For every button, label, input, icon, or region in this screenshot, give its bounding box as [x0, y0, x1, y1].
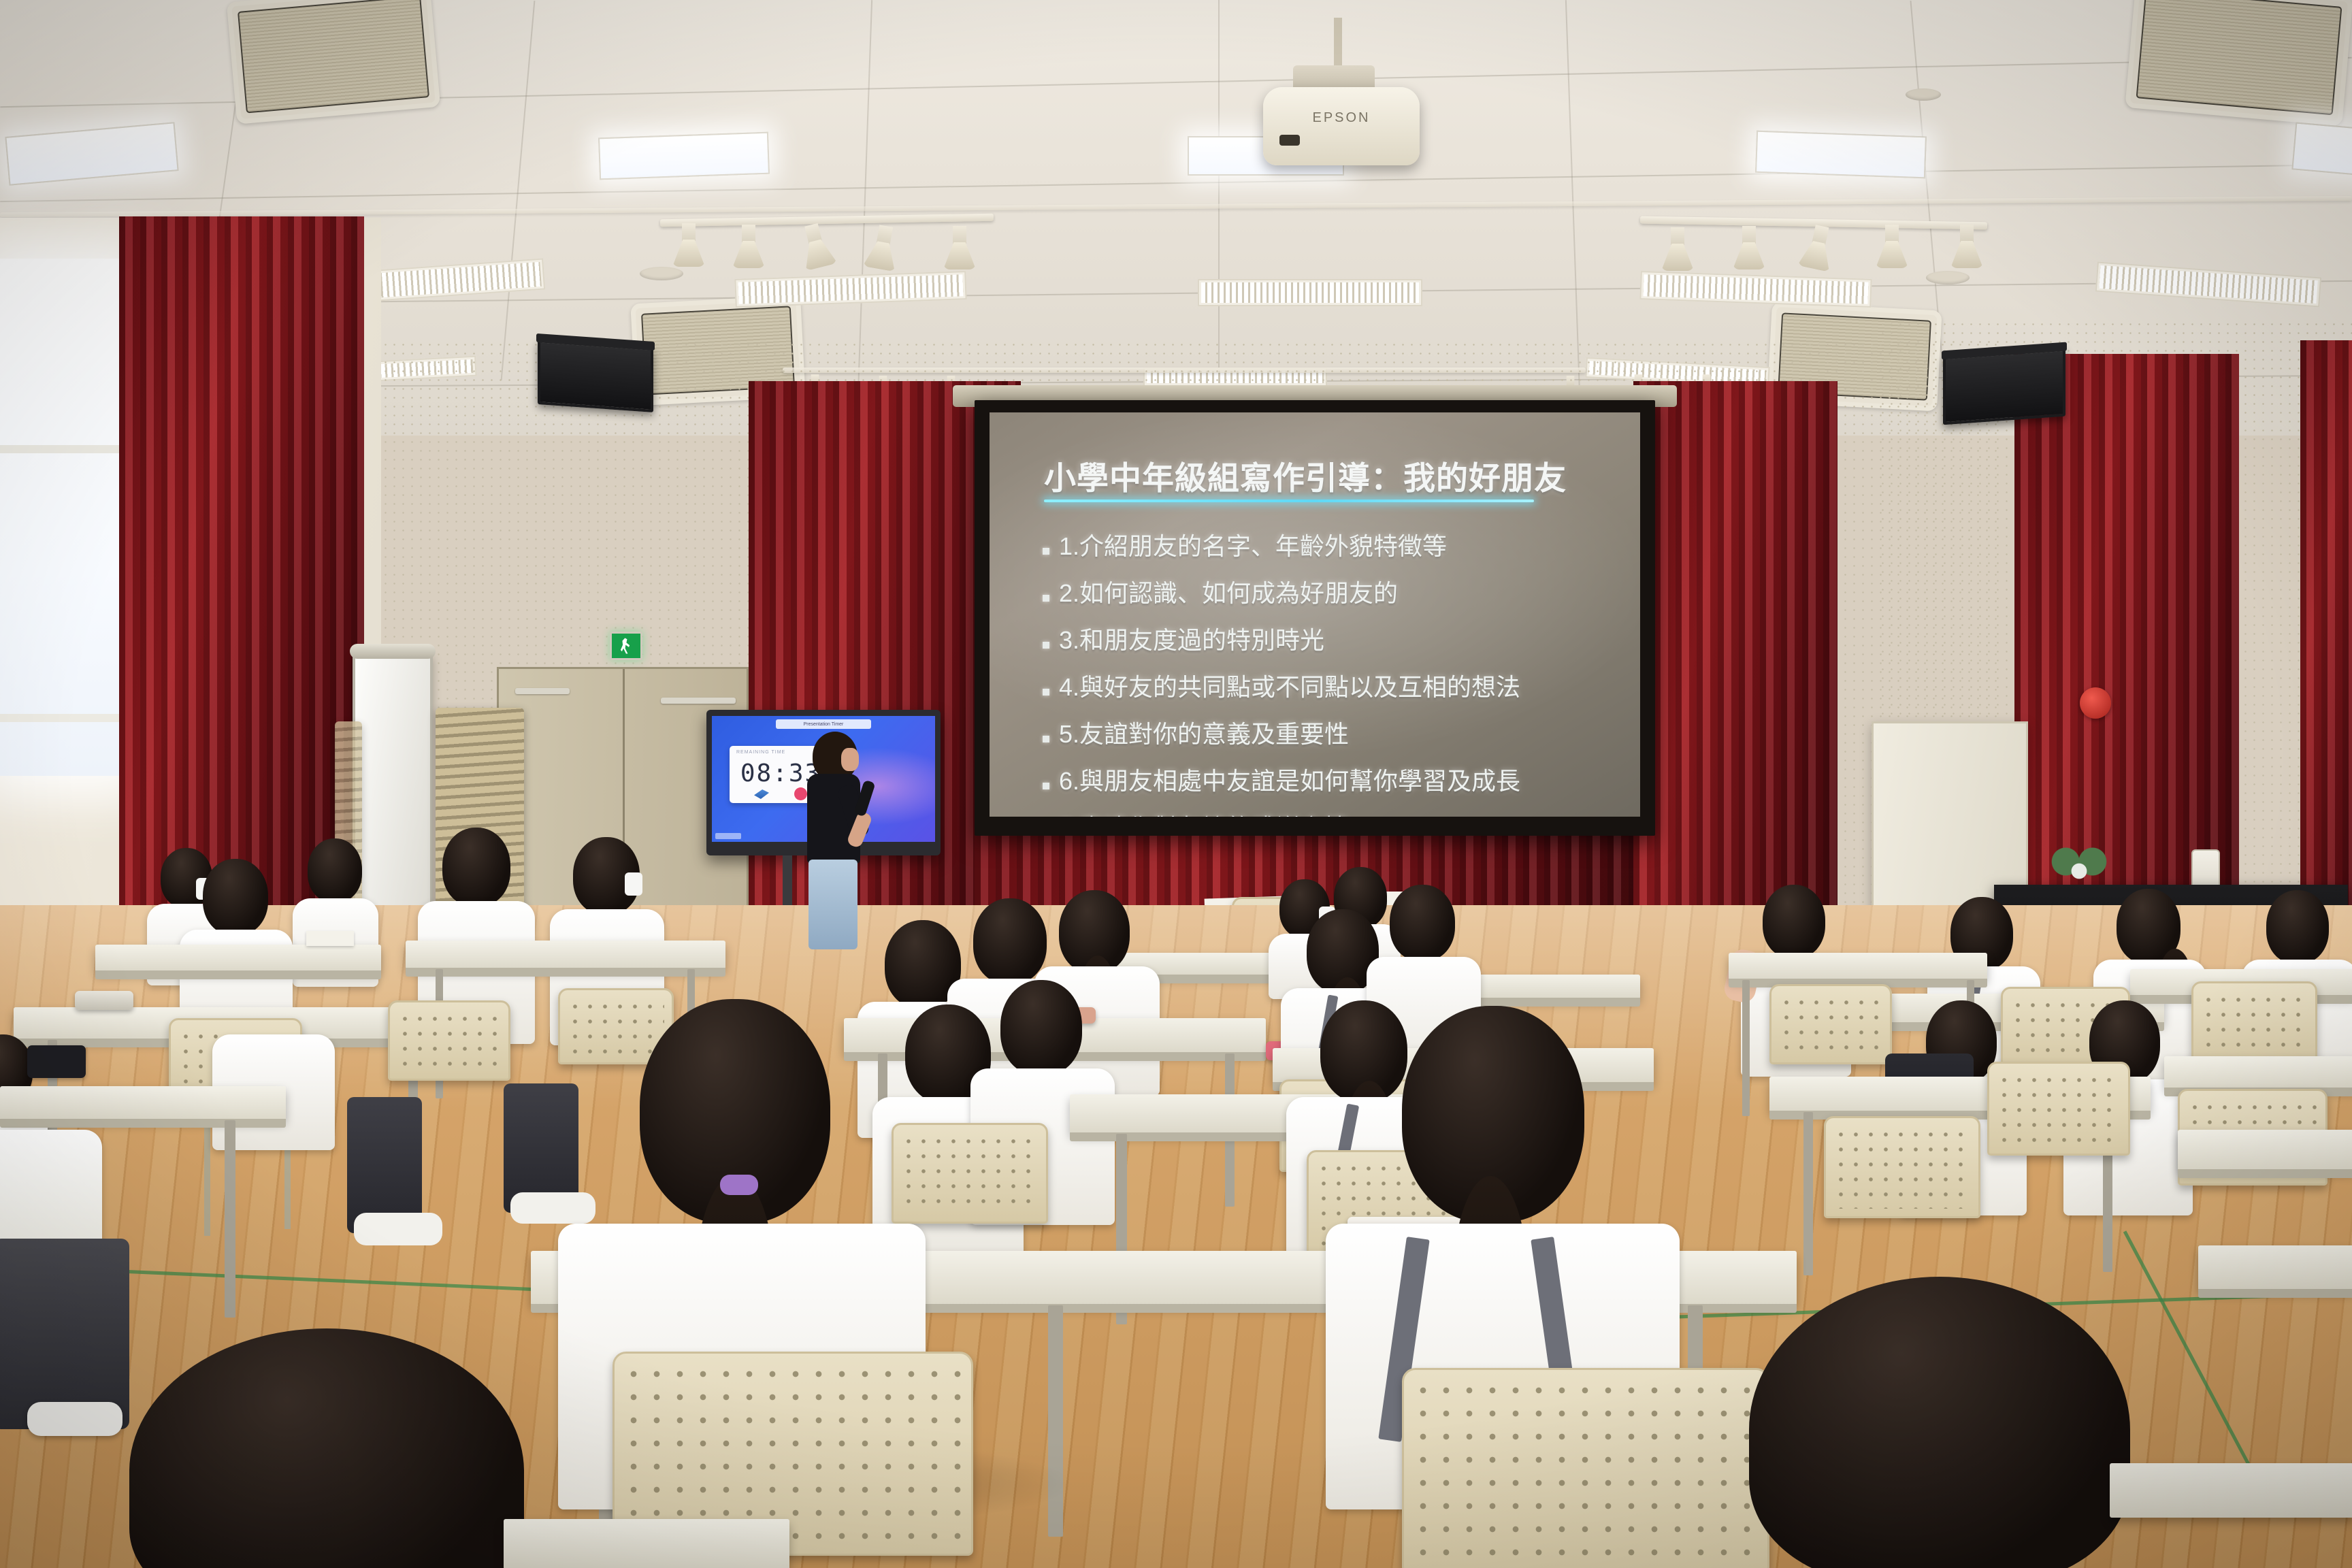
desk-leg	[225, 1120, 235, 1318]
ceiling-air-conditioner	[227, 0, 441, 125]
desk-edge	[95, 970, 381, 979]
student-desk	[0, 1086, 286, 1120]
curtain-back-right	[1633, 381, 1837, 973]
classroom-scene: EPSON 小學中年級組寫作引導：我的好朋友	[0, 0, 2352, 1568]
student-chair[interactable]	[388, 1000, 510, 1081]
student-head	[2266, 890, 2329, 964]
bullet-square-icon	[1043, 548, 1049, 555]
face-mask	[625, 872, 642, 896]
slide-bullet-text: 7.表達你對友誼的感謝之情	[1059, 808, 1349, 817]
ceiling-air-conditioner	[2125, 0, 2352, 127]
student-chair[interactable]	[2191, 981, 2317, 1063]
ceiling-panel-light	[1755, 131, 1927, 179]
student-head	[203, 859, 268, 935]
student-desk	[2110, 1463, 2352, 1518]
flower-arrangement	[2048, 843, 2110, 890]
track-spotlight	[1960, 225, 1974, 242]
smoke-detector	[1926, 271, 1970, 284]
desk-leg	[1803, 1112, 1813, 1275]
fire-alarm-bell	[2080, 687, 2111, 719]
slide-bullet-item: 2.如何認識、如何成為好朋友的	[1043, 574, 1627, 609]
student-chair[interactable]	[1824, 1116, 1980, 1218]
bullet-square-icon	[1043, 689, 1049, 696]
student-head	[973, 898, 1047, 984]
slide-bullet-list: 1.介紹朋友的名字、年齡外貌特徵等 2.如何認識、如何成為好朋友的 3.和朋友度…	[1043, 527, 1627, 817]
window	[0, 259, 129, 776]
student-desk	[2164, 1056, 2352, 1089]
student-desk	[95, 945, 381, 972]
desk-edge	[0, 1119, 286, 1128]
timer-label: REMAINING TIME	[736, 750, 785, 755]
projector-pole	[1334, 18, 1342, 72]
slide-title-underline	[1044, 500, 1534, 502]
slide-bullet-text: 6.與朋友相處中友誼是如何幫你學習及成長	[1059, 762, 1520, 797]
wall-speaker	[1943, 348, 2065, 425]
chair-perforation	[2201, 992, 2308, 1053]
exit-sign	[610, 632, 642, 660]
slide-title: 小學中年級組寫作引導：我的好朋友	[1044, 452, 1567, 499]
slide-bullet-text: 2.如何認識、如何成為好朋友的	[1059, 574, 1398, 609]
slide-bullet-item: 6.與朋友相處中友誼是如何幫你學習及成長	[1043, 762, 1627, 797]
student-head	[442, 828, 510, 906]
projector-brand-label: EPSON	[1263, 110, 1420, 126]
notebook	[306, 931, 354, 946]
slide-bullet-item: 5.友誼對你的意義及重要性	[1043, 715, 1627, 750]
teacher-face	[841, 748, 859, 771]
student-trousers	[0, 1239, 129, 1429]
student-desk	[504, 1519, 789, 1568]
student-head	[1763, 885, 1825, 958]
bullet-square-icon	[1043, 642, 1049, 649]
bullet-square-icon	[1043, 783, 1049, 789]
projector-lens	[1279, 135, 1300, 146]
track-spotlight	[1742, 226, 1756, 244]
rolled-projection-screen	[353, 655, 433, 927]
desk-leg	[1048, 1305, 1063, 1537]
timer-logo-icon	[754, 789, 769, 799]
student-head	[1749, 1277, 2130, 1568]
desk-edge	[2178, 1169, 2352, 1178]
bullet-square-icon	[1043, 595, 1049, 602]
student-desk	[1729, 953, 1987, 980]
door-push-bar[interactable]	[515, 688, 570, 694]
slide-bullet-item: 7.表達你對友誼的感謝之情	[1043, 808, 1627, 817]
track-spotlight	[1671, 227, 1684, 245]
chair-perforation	[1997, 1073, 2121, 1146]
track-spotlight	[1885, 225, 1899, 242]
slide-bullet-text: 5.友誼對你的意義及重要性	[1059, 715, 1349, 750]
slide-bullet-text: 3.和朋友度過的特別時光	[1059, 621, 1324, 656]
wall-speaker	[538, 340, 653, 412]
slide-bullet-item: 4.與好友的共同點或不同點以及互相的想法	[1043, 668, 1627, 703]
student-chair[interactable]	[1987, 1062, 2130, 1156]
ceiling-projector: EPSON	[1263, 87, 1420, 165]
screen-roller-cap	[350, 644, 436, 659]
ceiling-seam	[1218, 0, 1220, 395]
student-shoe	[510, 1192, 595, 1224]
student-desk	[2178, 1130, 2352, 1171]
timer-status-chip	[715, 833, 741, 839]
student-shoe	[354, 1213, 442, 1245]
slide-bullet-text: 1.介紹朋友的名字、年齡外貌特徵等	[1059, 527, 1447, 562]
chair-perforation	[1411, 1379, 1760, 1563]
chair-perforation	[901, 1134, 1039, 1214]
smoke-detector	[640, 267, 683, 280]
projection-screen-surface: 小學中年級組寫作引導：我的好朋友 1.介紹朋友的名字、年齡外貌特徵等 2.如何認…	[990, 412, 1640, 817]
smoke-detector	[1906, 88, 1941, 101]
window-mullion	[0, 714, 122, 722]
teacher-presenter	[802, 732, 867, 963]
student-desk	[406, 941, 725, 969]
timer-app-title: Presentation Timer	[804, 722, 844, 727]
ceiling-panel-light	[598, 132, 770, 180]
slide-bullet-item: 1.介紹朋友的名字、年齡外貌特徵等	[1043, 527, 1627, 562]
ceiling-air-vent	[1198, 279, 1422, 306]
track-spotlight	[742, 225, 755, 242]
student-chair[interactable]	[892, 1123, 1048, 1224]
chair-perforation	[1779, 995, 1882, 1055]
student-shoe	[27, 1402, 122, 1436]
desk-edge	[406, 968, 725, 977]
pencil-case	[27, 1045, 86, 1078]
student-chair[interactable]	[1402, 1368, 1769, 1568]
student-desk	[2198, 1245, 2352, 1290]
pencil-case	[75, 991, 133, 1010]
window-mullion	[0, 445, 122, 453]
track-spotlight	[682, 223, 696, 241]
desk-edge	[2198, 1289, 2352, 1298]
hair-tie	[720, 1175, 758, 1195]
desk-leg	[1742, 980, 1750, 1116]
slide-bullet-item: 3.和朋友度過的特別時光	[1043, 621, 1627, 656]
projection-screen: 小學中年級組寫作引導：我的好朋友 1.介紹朋友的名字、年齡外貌特徵等 2.如何認…	[975, 400, 1655, 836]
student-chair[interactable]	[1769, 984, 1892, 1064]
student-head	[308, 838, 362, 902]
bullet-square-icon	[1043, 736, 1049, 742]
student-head	[1000, 980, 1082, 1075]
teacher-trousers	[808, 860, 857, 949]
chair-perforation	[1833, 1127, 1971, 1209]
chair-perforation	[397, 1011, 501, 1071]
timer-app-toolbar[interactable]: Presentation Timer	[776, 719, 871, 729]
slide-bullet-text: 4.與好友的共同點或不同點以及互相的想法	[1059, 668, 1520, 703]
door-push-bar[interactable]	[661, 698, 736, 704]
track-spotlight	[953, 226, 966, 244]
chair-perforation	[568, 999, 664, 1055]
student-head	[1390, 885, 1455, 961]
